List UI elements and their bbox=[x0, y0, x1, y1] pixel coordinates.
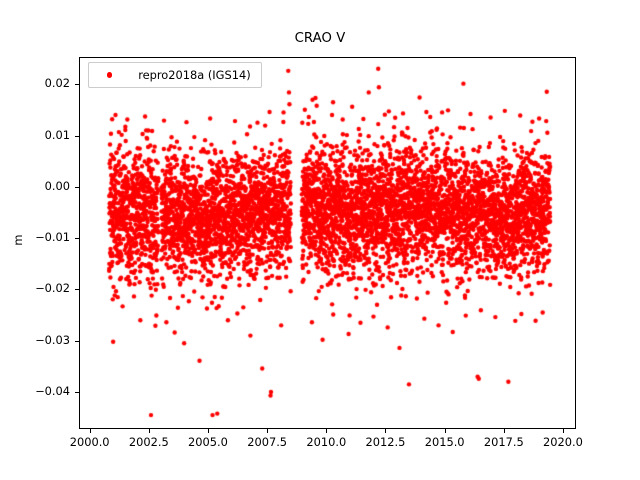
x-tick-mark bbox=[563, 429, 564, 433]
x-tick-mark bbox=[149, 429, 150, 433]
x-tick-mark bbox=[385, 429, 386, 433]
x-tick-mark bbox=[326, 429, 327, 433]
legend[interactable]: repro2018a (IGS14) bbox=[88, 62, 262, 88]
y-tick-label: −0.02 bbox=[8, 281, 70, 295]
legend-item-label: repro2018a (IGS14) bbox=[138, 68, 250, 82]
page-title: CRAO V bbox=[0, 31, 640, 46]
matplotlib-figure: CRAO V m 0.020.010.00−0.01−0.02−0.03−0.0… bbox=[0, 0, 640, 480]
y-tick-label: −0.03 bbox=[8, 333, 70, 347]
x-tick-mark bbox=[90, 429, 91, 433]
x-tick-mark bbox=[267, 429, 268, 433]
y-tick-label: 0.02 bbox=[8, 76, 70, 90]
x-tick-label: 2020.0 bbox=[518, 435, 608, 449]
x-tick-mark bbox=[445, 429, 446, 433]
y-tick-label: −0.04 bbox=[8, 384, 70, 398]
y-tick-label: −0.01 bbox=[8, 230, 70, 244]
plot-area bbox=[79, 57, 576, 429]
y-tick-label: 0.01 bbox=[8, 128, 70, 142]
x-tick-mark bbox=[504, 429, 505, 433]
y-tick-label: 0.00 bbox=[8, 179, 70, 193]
scatter-series-repro2018a bbox=[80, 58, 576, 429]
legend-marker-icon bbox=[107, 72, 112, 77]
x-tick-mark bbox=[208, 429, 209, 433]
